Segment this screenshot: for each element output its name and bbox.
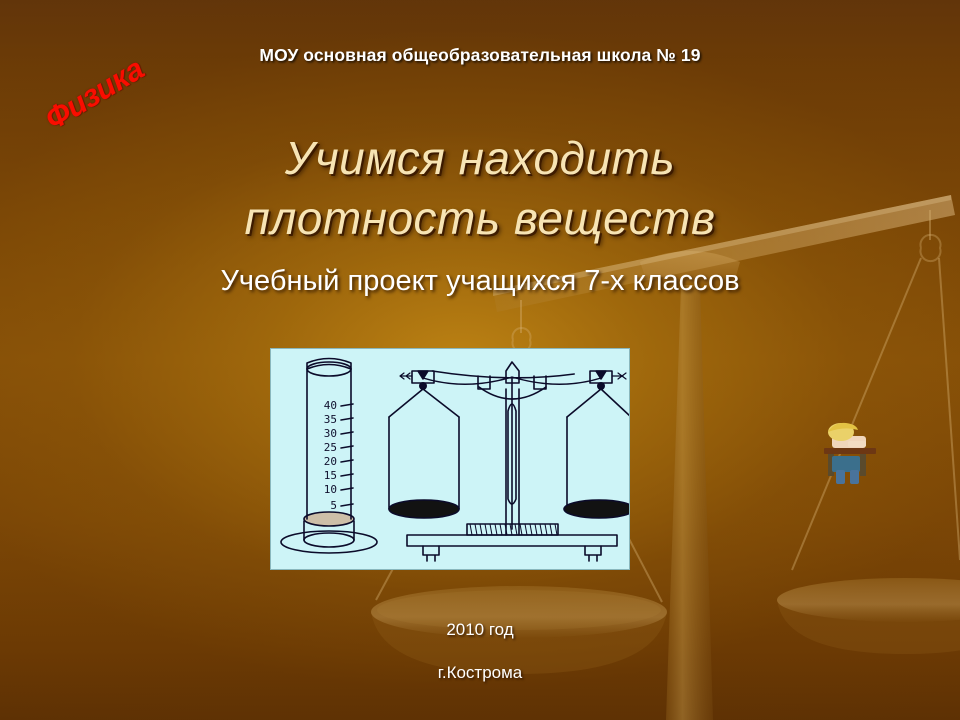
- presentation-slide: МОУ основная общеобразовательная школа №…: [0, 0, 960, 720]
- cylinder-scale-labels: 40 35 30 25 20 15 10 5: [324, 399, 337, 512]
- balance-column-art: [640, 251, 740, 720]
- footer-city: г.Кострома: [0, 663, 960, 683]
- cylinder-label-10: 10: [324, 483, 337, 496]
- cylinder-label-35: 35: [324, 413, 337, 426]
- right-scale-pan-art: [777, 578, 960, 654]
- balance-scale-figure: [389, 362, 630, 561]
- illustration-panel: 40 35 30 25 20 15 10 5: [270, 348, 630, 570]
- title-block: Учимся находить плотность веществ: [0, 128, 960, 248]
- page-subtitle: Учебный проект учащихся 7-х классов: [0, 265, 960, 298]
- right-hanger-art: [792, 210, 960, 570]
- page-title-line-2: плотность веществ: [0, 188, 960, 248]
- cylinder-label-5: 5: [330, 499, 337, 512]
- cylinder-label-25: 25: [324, 441, 337, 454]
- cylinder-label-15: 15: [324, 469, 337, 482]
- school-name-header: МОУ основная общеобразовательная школа №…: [0, 45, 960, 66]
- footer-year: 2010 год: [0, 620, 960, 640]
- cylinder-label-20: 20: [324, 455, 337, 468]
- student-at-desk-icon: [824, 423, 876, 484]
- page-title-line-1: Учимся находить: [0, 128, 960, 188]
- cylinder-and-balance-diagram: 40 35 30 25 20 15 10 5: [271, 349, 630, 570]
- cylinder-label-30: 30: [324, 427, 337, 440]
- cylinder-label-40: 40: [324, 399, 337, 412]
